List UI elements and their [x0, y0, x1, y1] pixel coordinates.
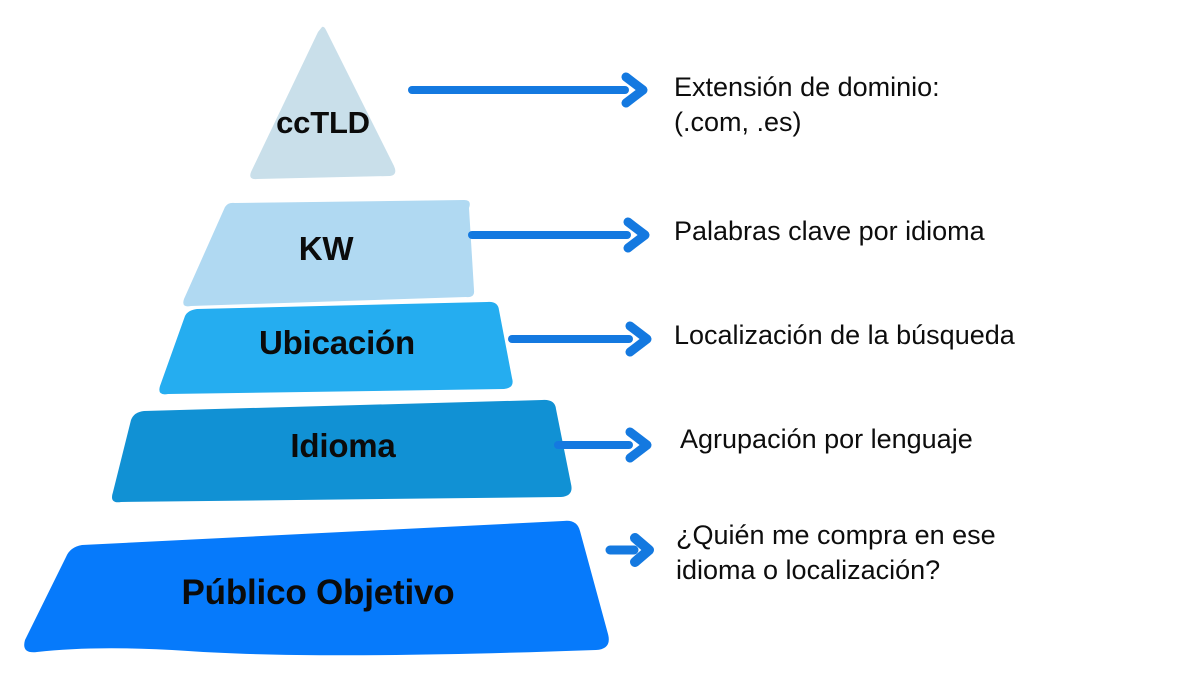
- pyramid-tier-idioma[interactable]: Idioma: [112, 398, 574, 508]
- description-ubicacion: Localización de la búsqueda: [674, 318, 1015, 353]
- arrow-idioma: [556, 428, 656, 462]
- pyramid-tier-idioma-shape: [112, 398, 574, 508]
- pyramid-tier-cctld-shape: [243, 24, 403, 184]
- pyramid-tier-cctld[interactable]: ccTLD: [243, 24, 403, 184]
- description-kw: Palabras clave por idioma: [674, 214, 985, 249]
- arrow-right-icon: [470, 218, 654, 252]
- pyramid-tier-ubicacion-shape: [157, 300, 517, 400]
- pyramid-diagram: ccTLD KW Ubicación Idioma Público Objeti…: [0, 0, 1200, 675]
- pyramid-tier-publico-objetivo[interactable]: Público Objetivo: [18, 510, 618, 654]
- description-idioma: Agrupación por lenguaje: [680, 422, 973, 457]
- arrow-right-icon: [608, 533, 660, 567]
- pyramid-tier-ubicacion[interactable]: Ubicación: [157, 300, 517, 400]
- arrow-right-icon: [410, 73, 652, 107]
- arrow-right-icon: [510, 322, 656, 356]
- pyramid-tier-publico-objetivo-shape: [18, 510, 618, 654]
- arrow-publico-objetivo: [608, 533, 660, 567]
- arrow-kw: [470, 218, 654, 252]
- arrow-cctld: [410, 73, 652, 107]
- arrow-right-icon: [556, 428, 656, 462]
- description-publico-objetivo: ¿Quién me compra en ese idioma o localiz…: [676, 518, 996, 587]
- arrow-ubicacion: [510, 322, 656, 356]
- description-cctld: Extensión de dominio: (.com, .es): [674, 70, 940, 139]
- pyramid-tier-kw-shape: [178, 198, 474, 310]
- pyramid-tier-kw[interactable]: KW: [178, 198, 474, 310]
